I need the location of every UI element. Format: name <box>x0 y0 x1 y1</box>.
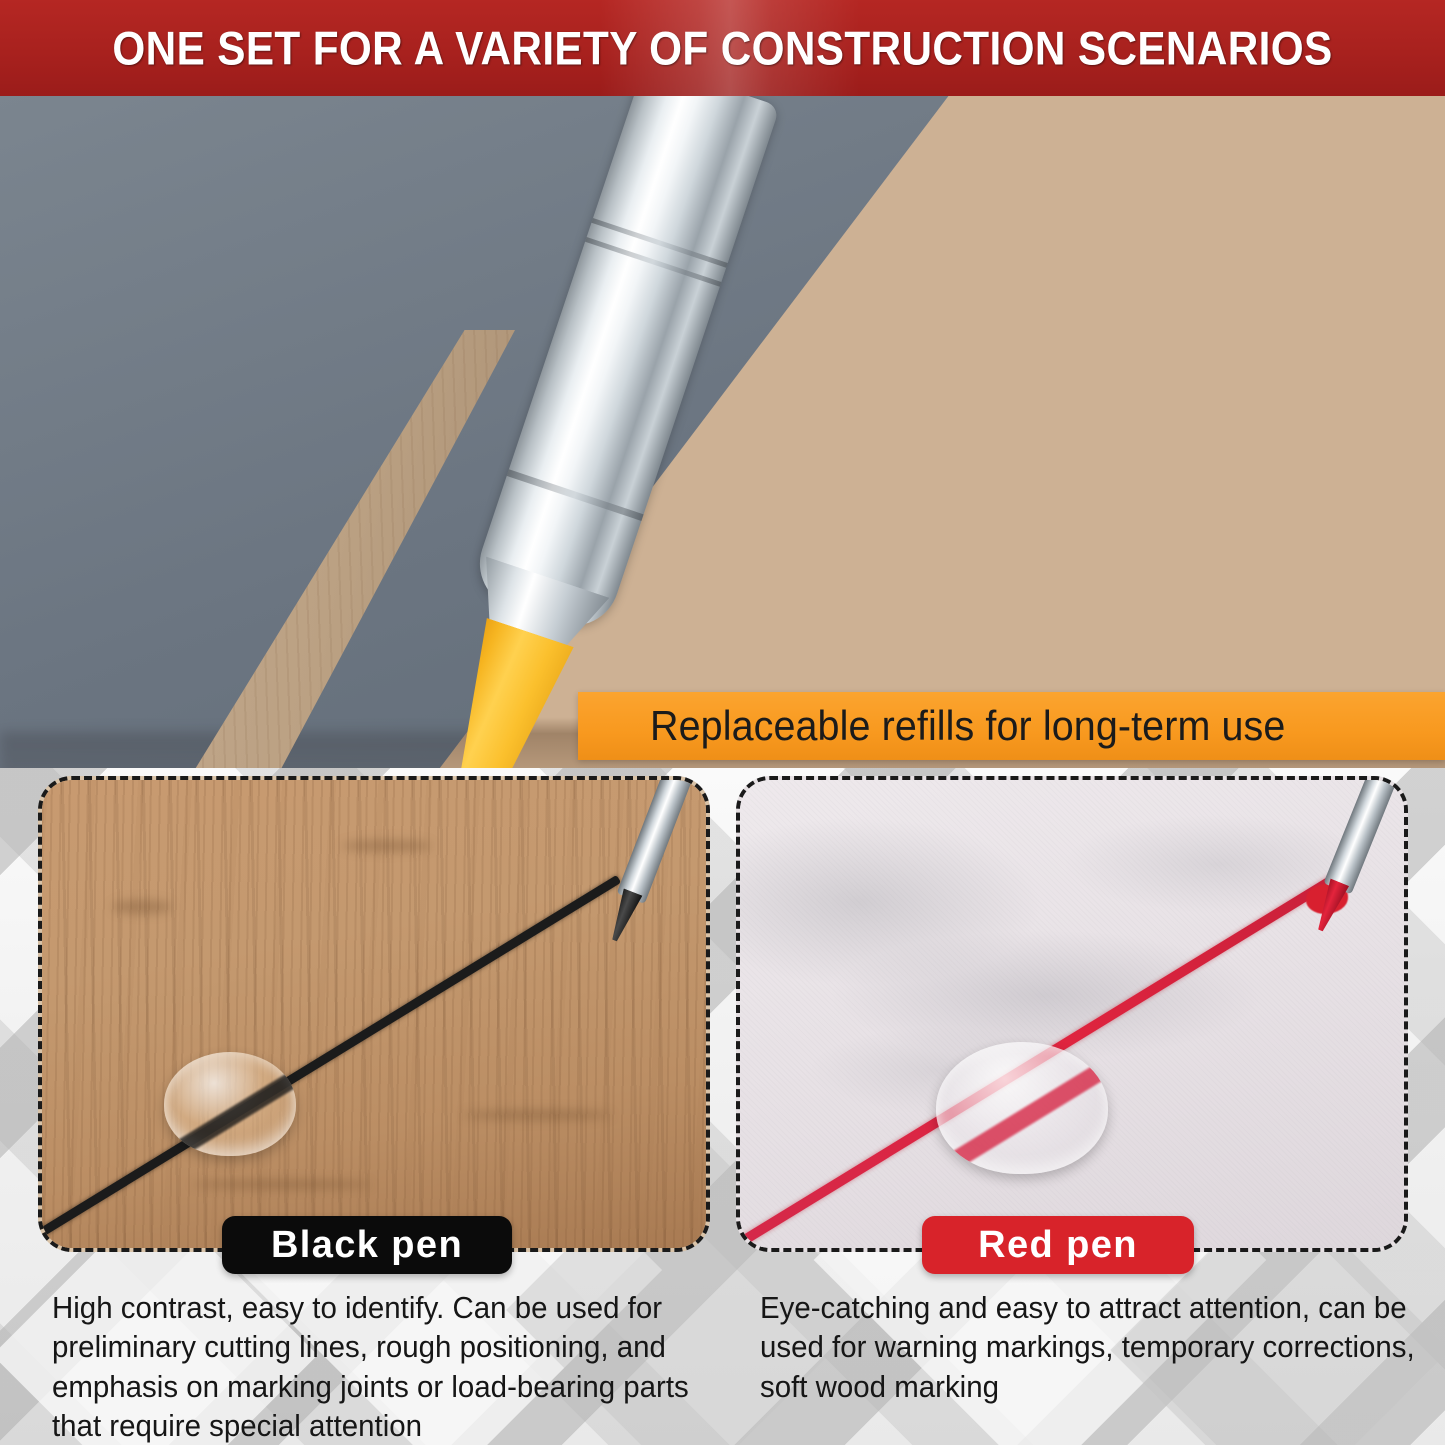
feature-callout-text: Replaceable refills for long-term use <box>650 702 1285 750</box>
feature-callout-band: Replaceable refills for long-term use <box>578 692 1445 760</box>
caption-red-pen: Eye-catching and easy to attract attenti… <box>760 1288 1425 1406</box>
hero-photo: Replaceable refills for long-term use <box>0 92 1445 768</box>
wood-knot <box>342 840 432 852</box>
wood-knot <box>462 1110 612 1120</box>
page-title: ONE SET FOR A VARIETY OF CONSTRUCTION SC… <box>72 21 1373 76</box>
panel-red-pen <box>736 776 1408 1252</box>
wood-knot <box>112 900 172 914</box>
black-pen-photo <box>42 780 706 1248</box>
panel-black-pen <box>38 776 710 1252</box>
badge-black-pen: Black pen <box>222 1216 512 1274</box>
badge-red-pen: Red pen <box>922 1216 1194 1274</box>
droplet-line-overlay <box>164 1052 296 1156</box>
caption-black-pen: High contrast, easy to identify. Can be … <box>52 1288 717 1445</box>
red-pen-photo <box>740 780 1404 1248</box>
wood-knot <box>192 1180 372 1189</box>
droplet-line-overlay <box>936 1042 1108 1174</box>
header-banner: ONE SET FOR A VARIETY OF CONSTRUCTION SC… <box>0 0 1445 96</box>
product-infographic: ONE SET FOR A VARIETY OF CONSTRUCTION SC… <box>0 0 1445 1445</box>
